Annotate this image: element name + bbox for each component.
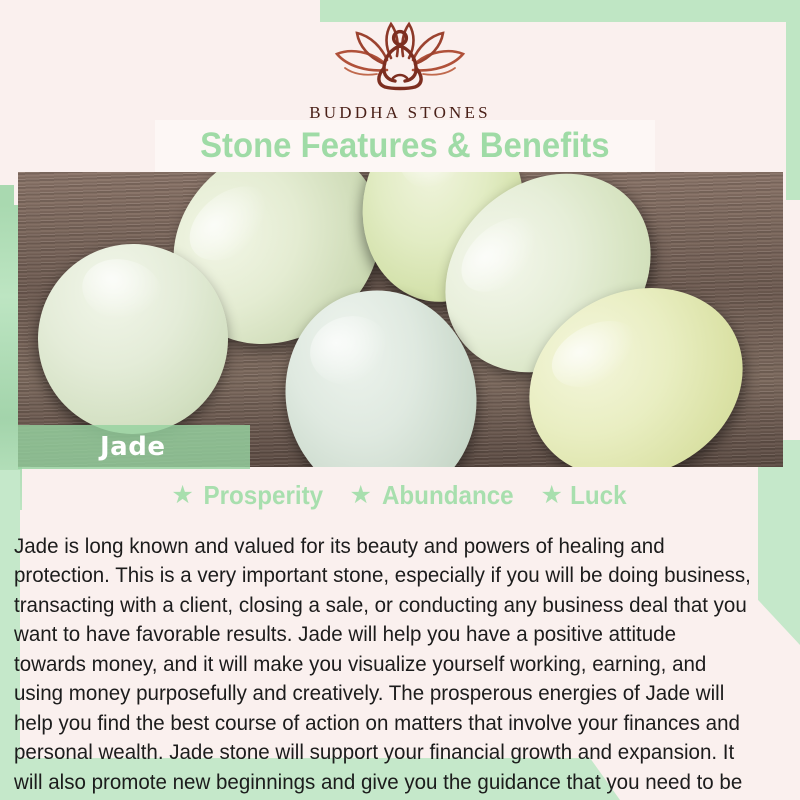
benefit-label: Prosperity (203, 480, 323, 511)
stone-photo (18, 172, 783, 467)
description-panel: Jade is long known and valued for its be… (14, 510, 786, 800)
page-title: Stone Features & Benefits (200, 126, 610, 166)
lotus-meditation-icon (325, 18, 475, 99)
stone-name-label: Jade (18, 425, 250, 469)
brand-logo-area: BUDDHA STONES (0, 18, 800, 118)
benefit-item: ★ Prosperity (171, 480, 327, 511)
star-icon: ★ (171, 483, 193, 508)
benefit-item: ★ Abundance (349, 480, 518, 511)
description-text: Jade is long known and valued for its be… (14, 532, 751, 800)
title-banner: Stone Features & Benefits (155, 120, 655, 172)
star-icon: ★ (349, 483, 371, 508)
stone-name-text: Jade (100, 432, 165, 462)
benefits-row: ★ Prosperity ★ Abundance ★ Luck (0, 478, 800, 512)
benefit-label: Abundance (382, 480, 514, 511)
star-icon: ★ (540, 483, 562, 508)
stone-info-card: BUDDHA STONES Stone Features & Benefits … (0, 0, 800, 800)
benefit-item: ★ Luck (540, 480, 628, 511)
benefit-label: Luck (570, 480, 626, 511)
